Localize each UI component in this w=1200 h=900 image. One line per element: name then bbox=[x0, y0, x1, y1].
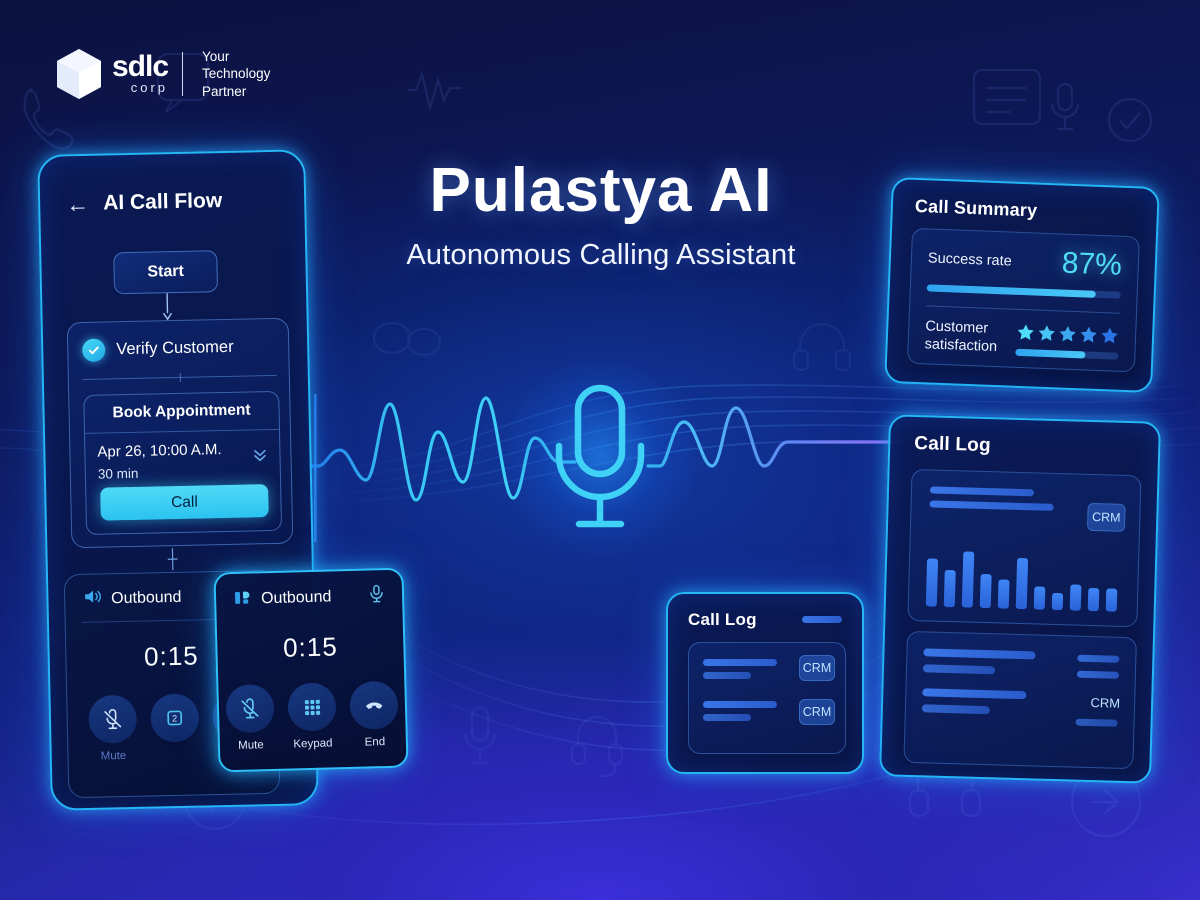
tagline-line-1: Your bbox=[202, 48, 270, 65]
call-log-small-title: Call Log bbox=[668, 594, 862, 630]
tagline-line-2: Technology bbox=[202, 65, 270, 82]
poster-canvas: sdlc corp Your Technology Partner Pulast… bbox=[0, 0, 1200, 900]
call-button[interactable]: Call bbox=[100, 484, 269, 521]
appointment-duration: 30 min bbox=[86, 457, 280, 482]
hero-headline: Pulastya AI Autonomous Calling Assistant bbox=[356, 158, 846, 272]
chart-bar bbox=[1052, 593, 1063, 610]
keypad-icon bbox=[287, 682, 336, 731]
keypad-label bbox=[151, 748, 199, 749]
skeleton-line bbox=[1077, 655, 1119, 663]
skeleton-line bbox=[923, 664, 995, 674]
appointment-date: Apr 26, 10:00 A.M. bbox=[85, 430, 280, 461]
keypad-button[interactable]: 2 bbox=[150, 693, 199, 761]
verify-customer-label: Verify Customer bbox=[116, 338, 234, 359]
end-call-button[interactable]: End bbox=[349, 681, 399, 749]
call-log-records-panel: CRM bbox=[903, 631, 1137, 769]
outbound-front-header: Outbound bbox=[215, 570, 402, 613]
mic-small-icon[interactable] bbox=[369, 584, 385, 608]
chart-bar bbox=[1034, 586, 1046, 609]
star-icon[interactable] bbox=[1100, 326, 1120, 346]
keypad-label: Keypad bbox=[289, 737, 337, 750]
end-label: End bbox=[351, 736, 399, 749]
keypad-button[interactable]: Keypad bbox=[287, 682, 337, 750]
page-title: Pulastya AI bbox=[356, 158, 846, 223]
outbound-back-label: Outbound bbox=[111, 588, 182, 607]
mute-button[interactable]: Mute bbox=[88, 695, 137, 763]
tagline-line-3: Partner bbox=[202, 83, 270, 100]
brand-logo: sdlc corp Your Technology Partner bbox=[56, 48, 270, 100]
mute-button[interactable]: Mute bbox=[225, 684, 275, 752]
skeleton-line bbox=[802, 616, 842, 623]
mic-off-icon bbox=[225, 684, 274, 733]
book-appointment-title: Book Appointment bbox=[84, 392, 279, 433]
chart-bar bbox=[980, 574, 992, 608]
satisfaction-label-line2: satisfaction bbox=[924, 335, 1004, 356]
outbound-front-timer: 0:15 bbox=[217, 630, 404, 666]
star-icon[interactable] bbox=[1037, 323, 1057, 343]
cube-logo-icon bbox=[56, 48, 102, 100]
mute-label: Mute bbox=[227, 739, 275, 752]
skeleton-line bbox=[1077, 671, 1119, 679]
svg-text:2: 2 bbox=[172, 713, 177, 723]
call-log-chart-panel: CRM bbox=[907, 469, 1141, 627]
success-rate-label: Success rate bbox=[928, 250, 1012, 269]
skeleton-line bbox=[923, 648, 1035, 659]
chart-bar bbox=[926, 558, 938, 606]
flow-connector-arrow bbox=[162, 293, 173, 321]
outbound-front-buttons: Mute Keypad End bbox=[218, 681, 406, 753]
check-circle-icon bbox=[82, 338, 105, 361]
skeleton-line bbox=[922, 688, 1026, 699]
call-summary-card: Call Summary Success rate 87% Customer s… bbox=[884, 177, 1160, 393]
chart-bar bbox=[1088, 588, 1100, 611]
skeleton-line bbox=[922, 704, 990, 714]
crm-badge[interactable]: CRM bbox=[799, 699, 835, 725]
mic-off-icon bbox=[88, 695, 137, 744]
mute-label: Mute bbox=[89, 750, 137, 763]
skeleton-line bbox=[703, 659, 777, 666]
skeleton-line bbox=[930, 486, 1034, 496]
skeleton-line bbox=[703, 672, 751, 679]
chart-bar bbox=[1070, 584, 1082, 610]
flow-split-line bbox=[83, 375, 277, 380]
page-subtitle: Autonomous Calling Assistant bbox=[356, 239, 846, 272]
chart-bar bbox=[944, 570, 956, 607]
crm-badge[interactable]: CRM bbox=[799, 655, 835, 681]
call-flow-title: AI Call Flow bbox=[103, 189, 222, 215]
satisfaction-label: Customer satisfaction bbox=[924, 317, 1004, 356]
crm-label: CRM bbox=[1090, 695, 1120, 711]
signal-bars-icon bbox=[234, 589, 253, 610]
microphone-icon bbox=[545, 382, 655, 537]
success-rate-bar bbox=[927, 284, 1121, 298]
chart-bar bbox=[998, 579, 1010, 608]
satisfaction-stars[interactable] bbox=[1016, 322, 1120, 345]
call-log-card-small: Call Log CRM CRM bbox=[666, 592, 864, 774]
call-flow-header: ← AI Call Flow bbox=[39, 151, 304, 217]
speaker-icon bbox=[83, 588, 102, 609]
chevron-double-down-icon[interactable] bbox=[253, 448, 266, 463]
logo-wordmark: sdlc bbox=[112, 53, 168, 82]
call-log-card-large: Call Log CRM CRM bbox=[879, 414, 1161, 783]
star-icon[interactable] bbox=[1079, 325, 1099, 345]
brand-tagline: Your Technology Partner bbox=[202, 48, 270, 100]
skeleton-line bbox=[930, 500, 1054, 510]
logo-divider bbox=[182, 52, 183, 96]
skeleton-line bbox=[1075, 719, 1117, 727]
flow-node-book-appointment[interactable]: Book Appointment Apr 26, 10:00 A.M. 30 m… bbox=[83, 391, 282, 535]
skeleton-line bbox=[703, 714, 751, 721]
call-summary-panel: Success rate 87% Customer satisfaction bbox=[907, 228, 1140, 373]
crm-badge[interactable]: CRM bbox=[1087, 503, 1126, 532]
chart-bar bbox=[962, 551, 975, 607]
success-rate-value: 87% bbox=[1061, 247, 1122, 283]
call-log-small-panel: CRM CRM bbox=[688, 642, 846, 754]
end-call-icon bbox=[349, 681, 398, 730]
call-summary-title: Call Summary bbox=[893, 179, 1158, 226]
flow-node-start[interactable]: Start bbox=[113, 250, 218, 294]
chart-bar bbox=[1016, 558, 1028, 609]
verify-row: Verify Customer bbox=[68, 319, 289, 363]
star-icon[interactable] bbox=[1016, 322, 1036, 342]
flow-node-verify-customer[interactable]: Verify Customer Book Appointment Apr 26,… bbox=[67, 318, 294, 549]
flow-connector-lower bbox=[167, 548, 178, 572]
keypad-square-icon: 2 bbox=[150, 693, 199, 742]
chart-bar bbox=[1106, 588, 1118, 611]
outbound-front-label: Outbound bbox=[261, 588, 332, 608]
success-rate-row: Success rate 87% bbox=[911, 229, 1139, 284]
back-arrow-icon[interactable]: ← bbox=[66, 192, 89, 215]
call-log-bar-chart bbox=[926, 544, 1119, 611]
satisfaction-row: Customer satisfaction bbox=[908, 306, 1136, 362]
outbound-call-card-front[interactable]: Outbound 0:15 Mute bbox=[213, 568, 408, 773]
call-log-large-title: Call Log bbox=[890, 416, 1159, 461]
star-icon[interactable] bbox=[1058, 324, 1078, 344]
skeleton-line bbox=[703, 701, 777, 708]
